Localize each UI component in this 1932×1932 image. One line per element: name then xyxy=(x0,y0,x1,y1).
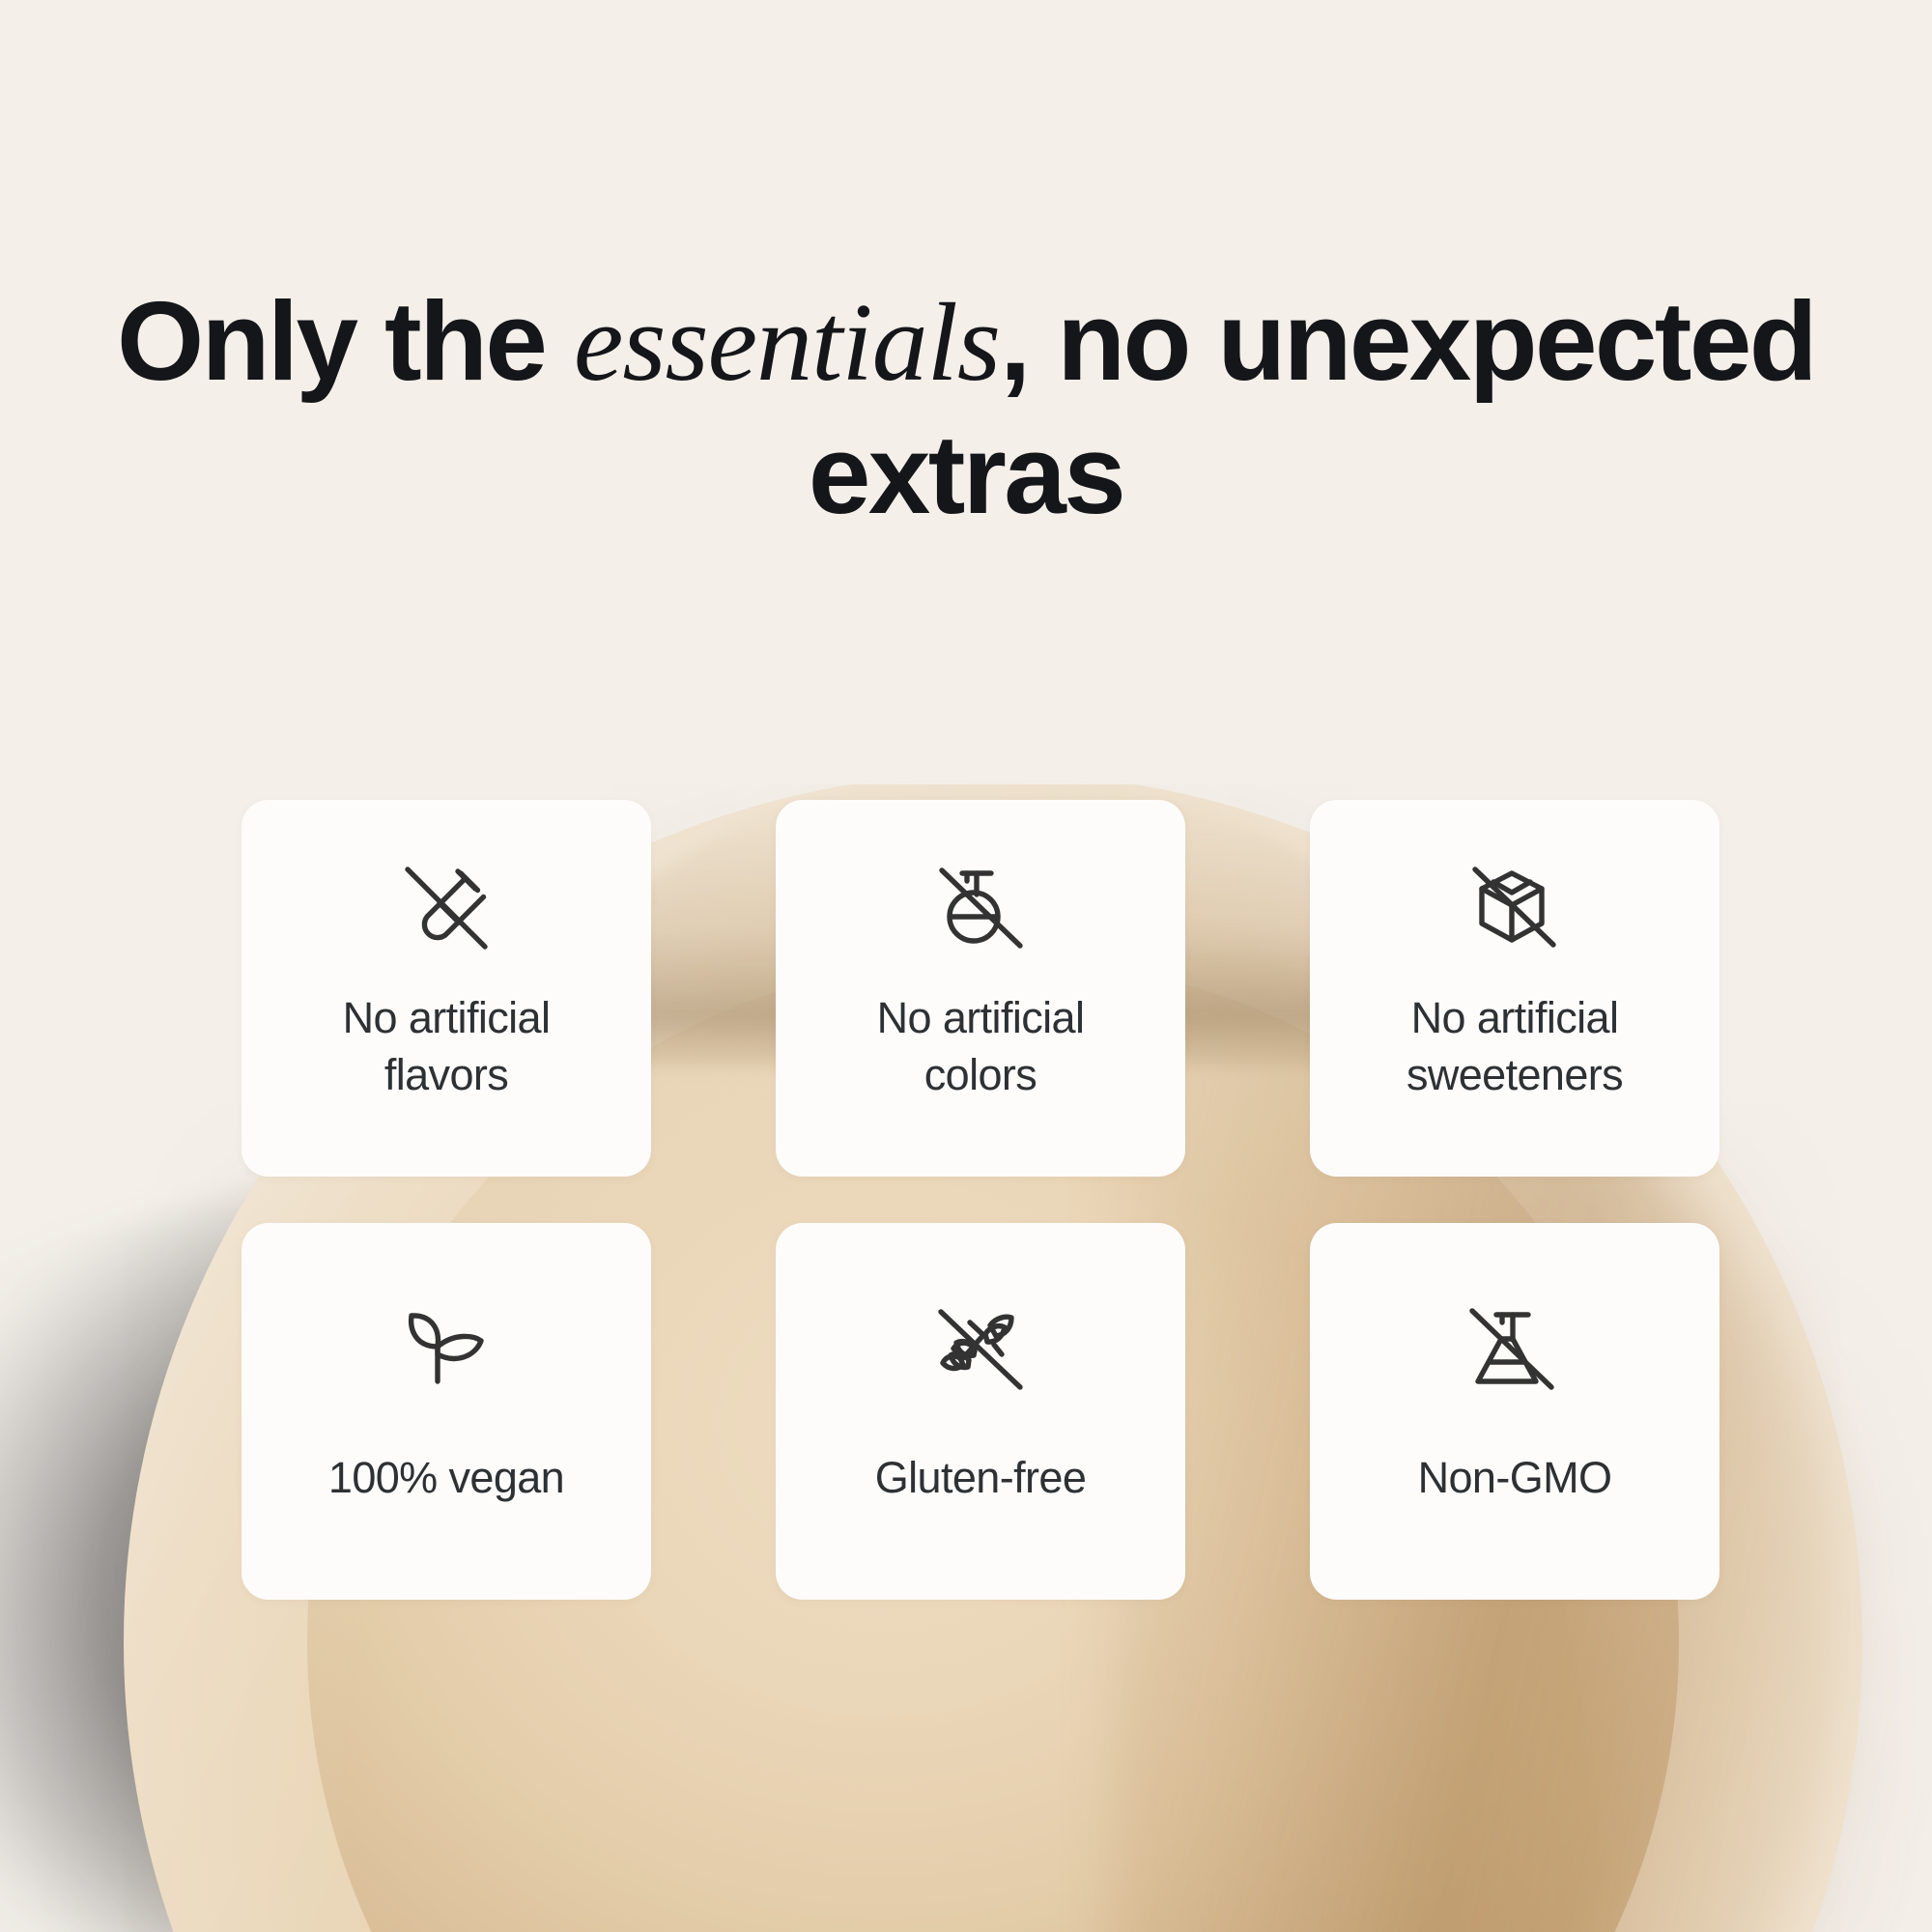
feature-label-line-2: colors xyxy=(924,1050,1037,1099)
feature-card-label: No artificial colors xyxy=(856,989,1106,1104)
no-artificial-colors-icon xyxy=(930,856,1031,956)
feature-label-line-1: Non-GMO xyxy=(1418,1453,1612,1502)
feature-card-non-gmo[interactable]: Non-GMO xyxy=(1310,1223,1719,1600)
feature-card-label: 100% vegan xyxy=(307,1449,585,1506)
page-headline: Only the essentials, no unexpected extra… xyxy=(0,276,1932,540)
feature-card-label: No artificial flavors xyxy=(322,989,572,1104)
feature-label-line-1: No artificial xyxy=(343,993,551,1042)
no-artificial-flavors-icon xyxy=(396,856,497,956)
gluten-free-wheat-icon xyxy=(930,1298,1031,1399)
feature-card-vegan[interactable]: 100% vegan xyxy=(241,1223,651,1600)
no-artificial-sweeteners-icon xyxy=(1464,856,1565,956)
feature-card-label: Non-GMO xyxy=(1397,1449,1634,1506)
feature-card-gluten-free[interactable]: Gluten-free xyxy=(776,1223,1185,1600)
feature-label-line-1: No artificial xyxy=(1411,993,1619,1042)
feature-card-no-artificial-flavors[interactable]: No artificial flavors xyxy=(241,800,651,1177)
feature-label-line-2: flavors xyxy=(384,1050,508,1099)
feature-card-no-artificial-sweeteners[interactable]: No artificial sweeteners xyxy=(1310,800,1719,1177)
feature-label-line-1: No artificial xyxy=(877,993,1085,1042)
feature-card-label: No artificial sweeteners xyxy=(1385,989,1644,1104)
headline-part-1: Only the xyxy=(117,278,574,404)
non-gmo-flask-icon xyxy=(1464,1298,1565,1399)
feature-label-line-1: Gluten-free xyxy=(875,1453,1087,1502)
feature-card-grid: No artificial flavors No artificial colo… xyxy=(241,800,1719,1600)
vegan-sprout-icon xyxy=(396,1298,497,1399)
feature-card-label: Gluten-free xyxy=(854,1449,1108,1506)
feature-label-line-1: 100% vegan xyxy=(328,1453,564,1502)
headline-emphasis: essentials xyxy=(574,281,1000,405)
feature-label-line-2: sweeteners xyxy=(1406,1050,1623,1099)
feature-card-no-artificial-colors[interactable]: No artificial colors xyxy=(776,800,1185,1177)
